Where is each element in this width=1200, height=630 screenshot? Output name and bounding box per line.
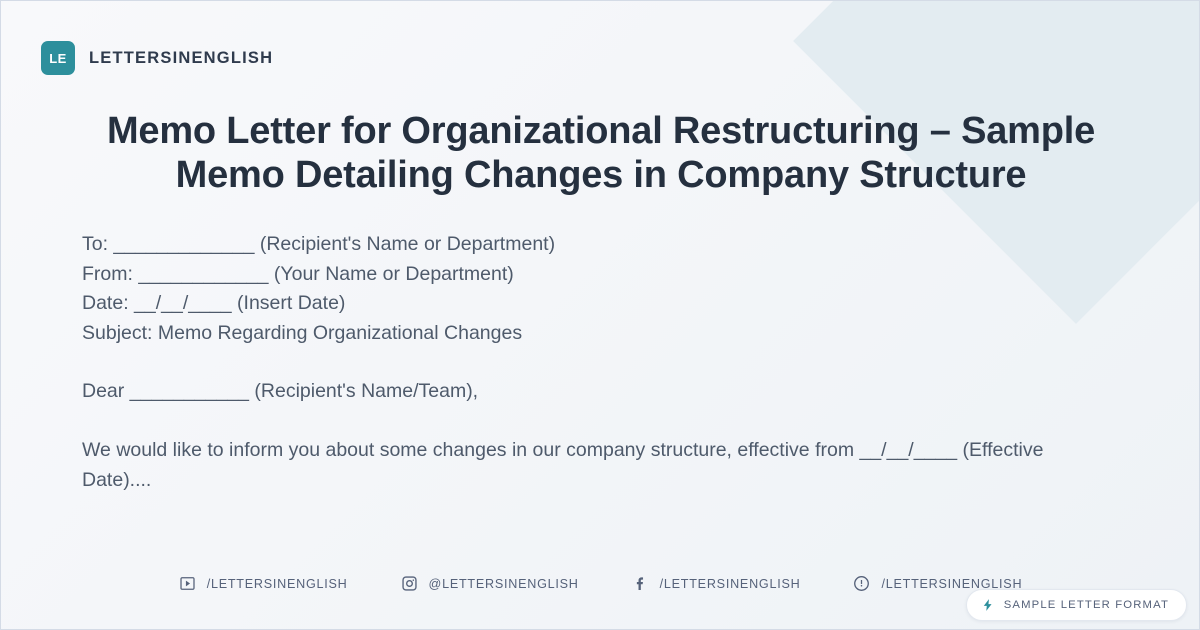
social-share-card: LE LETTERSINENGLISH Memo Letter for Orga… xyxy=(0,0,1200,630)
social-link-youtube[interactable]: /LETTERSINENGLISH xyxy=(178,574,348,593)
brand-logo: LE LETTERSINENGLISH xyxy=(41,41,273,75)
social-label-instagram: @LETTERSINENGLISH xyxy=(429,577,579,591)
letter-field-subject: Subject: Memo Regarding Organizational C… xyxy=(82,319,1092,349)
sample-letter-format-label: SAMPLE LETTER FORMAT xyxy=(1004,599,1169,611)
brand-badge-icon: LE xyxy=(41,41,75,75)
social-link-instagram[interactable]: @LETTERSINENGLISH xyxy=(400,574,579,593)
letter-body: To: _____________ (Recipient's Name or D… xyxy=(82,230,1092,495)
instagram-icon xyxy=(400,574,419,593)
letter-field-date: Date: __/__/____ (Insert Date) xyxy=(82,289,1092,319)
social-link-facebook[interactable]: /LETTERSINENGLISH xyxy=(631,574,801,593)
letter-field-from: From: ____________ (Your Name or Departm… xyxy=(82,260,1092,290)
youtube-icon xyxy=(178,574,197,593)
letter-paragraph: We would like to inform you about some c… xyxy=(82,436,1092,495)
sample-letter-format-badge[interactable]: SAMPLE LETTER FORMAT xyxy=(966,589,1187,621)
letter-salutation: Dear ___________ (Recipient's Name/Team)… xyxy=(82,377,1092,407)
social-label-youtube: /LETTERSINENGLISH xyxy=(207,577,348,591)
body-spacer xyxy=(82,407,1092,436)
facebook-icon xyxy=(631,574,650,593)
lightning-bolt-icon xyxy=(981,598,995,612)
letter-field-to: To: _____________ (Recipient's Name or D… xyxy=(82,230,1092,260)
page-title: Memo Letter for Organizational Restructu… xyxy=(101,109,1101,197)
social-label-facebook: /LETTERSINENGLISH xyxy=(660,577,801,591)
body-spacer xyxy=(82,348,1092,377)
brand-name: LETTERSINENGLISH xyxy=(89,49,273,68)
pinterest-icon xyxy=(852,574,871,593)
